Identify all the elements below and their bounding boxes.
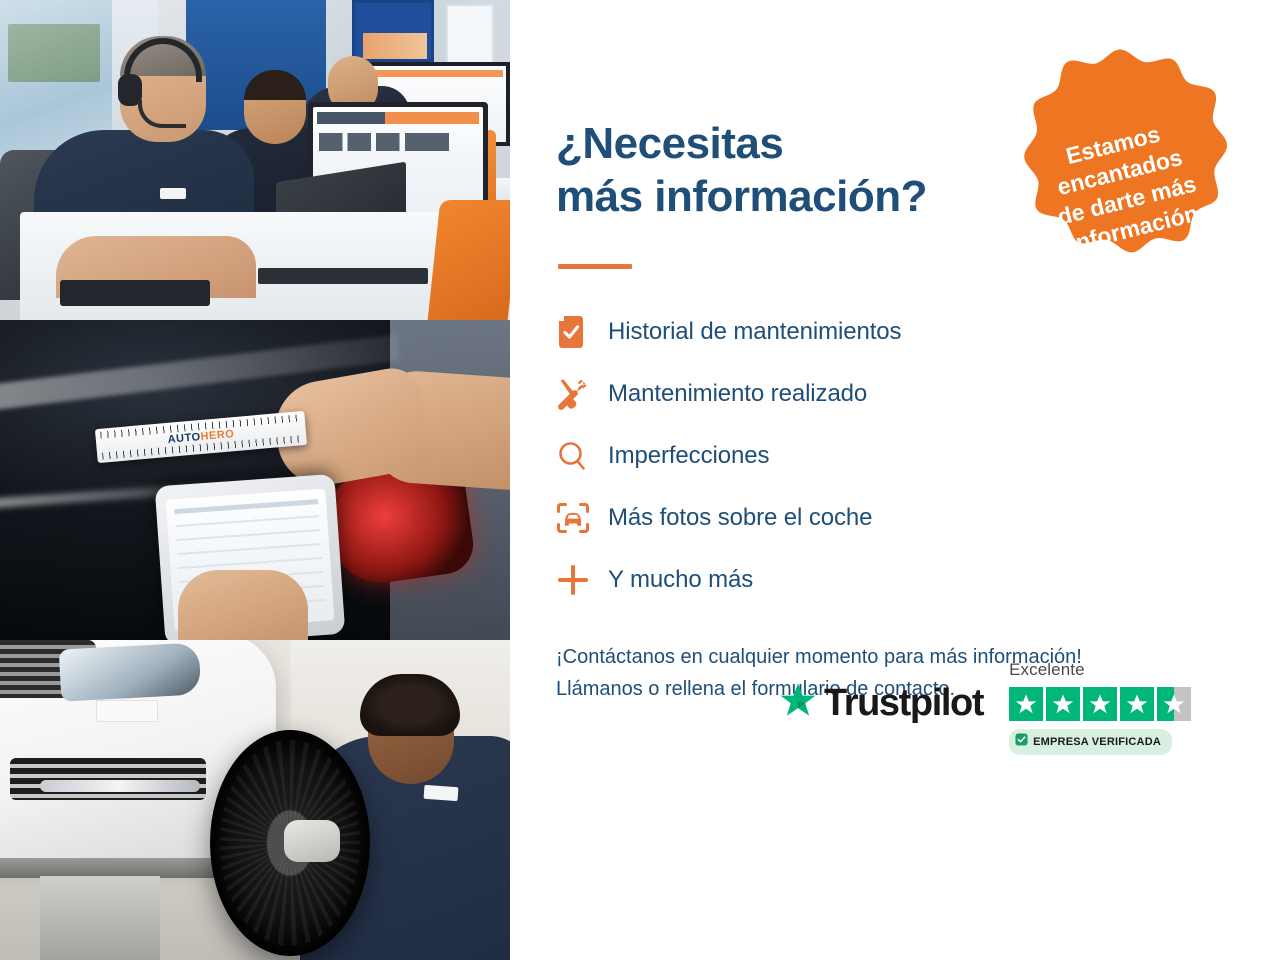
car-lift-post-decor [40,876,160,960]
inspector-second-hand-decor [178,570,308,640]
tablet-on-desk-decor [60,280,210,306]
feature-label: Historial de mantenimientos [608,318,901,346]
feature-label: Y mucho más [608,566,753,594]
mechanic-glove-decor [284,820,340,862]
list-item: Imperfecciones [556,425,1280,487]
autohero-logo-hero: HERO [200,428,235,443]
verified-badge-label: EMPRESA VERIFICADA [1033,736,1161,748]
laptop-base-decor [258,268,428,284]
starburst-shape [994,44,1246,302]
star-half [1157,687,1191,721]
bumper-vent-decor [10,758,206,800]
trustpilot-rating[interactable]: Trustpilot Excelente [778,660,1191,755]
autohero-ruler: AUTOHERO [95,411,307,463]
list-item: Más fotos sobre el coche [556,487,1280,549]
trustpilot-star-icon [778,682,818,725]
license-plate-decor [96,700,158,722]
trustpilot-score-block: Excelente [1009,660,1191,755]
autohero-ruler-logo: AUTOHERO [167,428,235,446]
feature-list: Historial de mantenimientos [556,301,1280,611]
feature-label: Imperfecciones [608,442,769,470]
accent-divider [558,264,632,269]
tools-wrench-screwdriver-icon [556,377,608,411]
content-panel: ¿Necesitas más información? Historial de… [510,0,1280,960]
list-item: Mantenimiento realizado [556,363,1280,425]
photo-column: AUTOHERO [0,0,510,960]
trustpilot-logo[interactable]: Trustpilot [778,682,983,725]
list-item: Historial de mantenimientos [556,301,1280,363]
autohero-logo-auto: AUTO [167,431,201,446]
trustpilot-stars [1009,687,1191,721]
star-filled [1009,687,1043,721]
promo-banner: AUTOHERO ¿Necesitas [0,0,1280,960]
trustpilot-rating-label: Excelente [1009,660,1191,680]
car-scan-frame-icon [556,502,608,534]
status-badge: EMPRESA VERIFICADA [1009,729,1172,755]
magnifier-icon [556,440,608,472]
verified-check-icon [1015,733,1028,751]
feature-label: Mantenimiento realizado [608,380,867,408]
list-item: Y mucho más [556,549,1280,611]
support-starburst-badge: Estamos encantados de darte más informac… [994,44,1246,302]
trustpilot-wordmark: Trustpilot [824,682,983,725]
car-inspection-ruler-photo: AUTOHERO [0,320,510,640]
call-center-agents-photo [0,0,510,320]
agent-uniform-badge-decor [160,188,186,199]
mechanic-uniform-badge-decor [424,785,459,801]
checklist-document-icon [556,315,608,349]
plus-icon [556,563,608,597]
mechanic-hair-decor [360,674,460,736]
page-title: ¿Necesitas más información? [556,118,1026,224]
star-filled [1083,687,1117,721]
car-headlight-decor [59,642,202,701]
feature-label: Más fotos sobre el coche [608,504,872,532]
orange-chair-decor [428,200,510,320]
star-filled [1120,687,1154,721]
workshop-wheel-photo [0,640,510,960]
wall-poster-decor [352,0,434,62]
star-filled [1046,687,1080,721]
chrome-trim-decor [40,780,200,792]
